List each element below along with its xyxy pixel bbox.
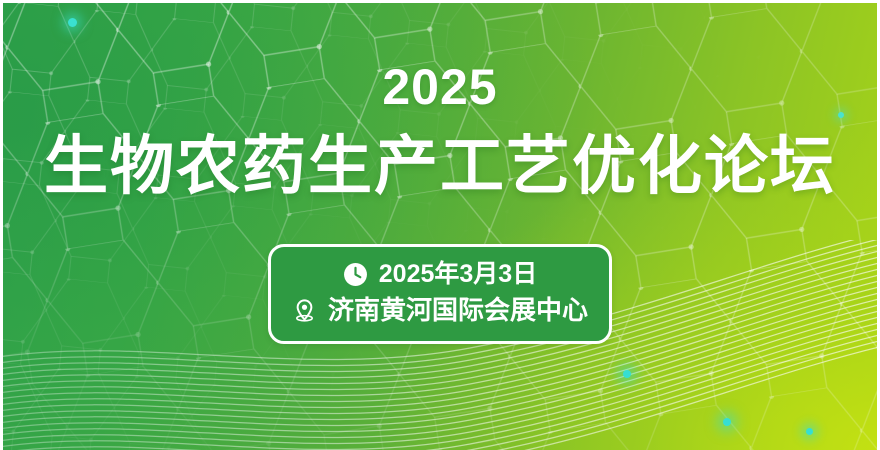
- banner-content: 2025 生物农药生产工艺优化论坛 2025年3月3日 济南黄河国际会展中心: [0, 0, 880, 450]
- clock-icon: [343, 262, 368, 287]
- event-info-box: 2025年3月3日 济南黄河国际会展中心: [268, 244, 612, 344]
- event-venue-row: 济南黄河国际会展中心: [292, 294, 588, 327]
- event-banner: 2025 生物农药生产工艺优化论坛 2025年3月3日 济南黄河国际会展中心: [0, 0, 880, 450]
- location-pin-icon: [292, 298, 317, 323]
- event-date-text: 2025年3月3日: [379, 259, 537, 290]
- event-venue-text: 济南黄河国际会展中心: [328, 294, 588, 327]
- event-date-row: 2025年3月3日: [343, 259, 537, 290]
- event-title: 生物农药生产工艺优化论坛: [44, 134, 836, 198]
- event-year: 2025: [382, 62, 497, 112]
